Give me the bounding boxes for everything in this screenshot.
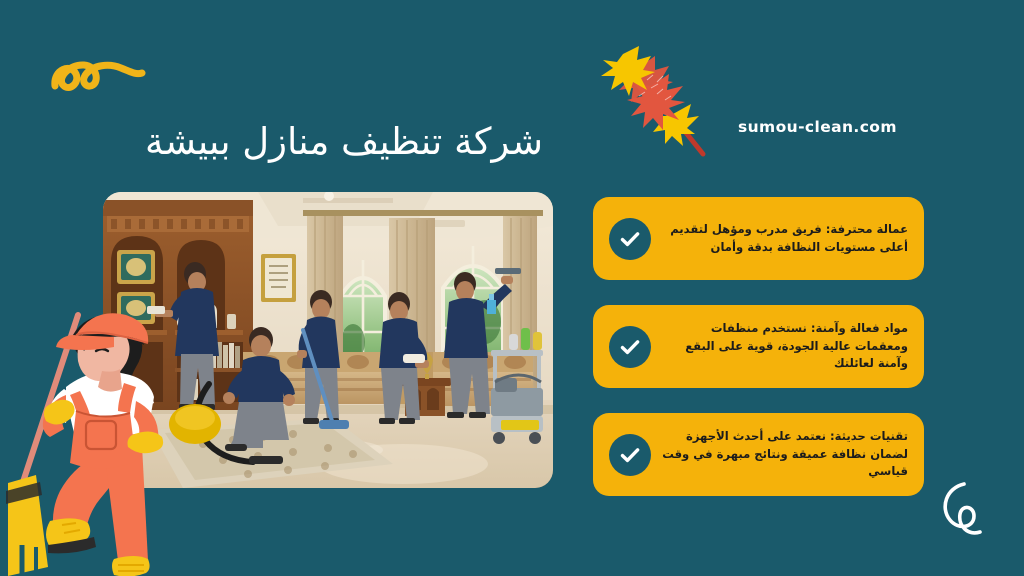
page-title: شركة تنظيف منازل ببيشة xyxy=(89,119,599,165)
feature-text: مواد فعالة وآمنة: نستخدم منظفات ومعقمات … xyxy=(651,320,910,373)
check-circle-icon xyxy=(609,326,651,368)
features-list: عمالة محترفة: فريق مدرب ومؤهل لتقديم أعل… xyxy=(593,197,924,496)
feature-card-3[interactable]: تقنيات حديثة: نعتمد على أحدث الأجهزة لضم… xyxy=(593,413,924,496)
feather-duster-icon xyxy=(595,42,717,164)
check-circle-icon xyxy=(609,434,651,476)
yellow-squiggle-icon xyxy=(47,43,147,103)
feature-text: عمالة محترفة: فريق مدرب ومؤهل لتقديم أعل… xyxy=(651,221,910,256)
feature-card-2[interactable]: مواد فعالة وآمنة: نستخدم منظفات ومعقمات … xyxy=(593,305,924,388)
feature-card-1[interactable]: عمالة محترفة: فريق مدرب ومؤهل لتقديم أعل… xyxy=(593,197,924,280)
feature-text: تقنيات حديثة: نعتمد على أحدث الأجهزة لضم… xyxy=(651,428,910,481)
promo-banner: شركة تنظيف منازل ببيشة sumou-clean.com xyxy=(0,0,1024,576)
website-url[interactable]: sumou-clean.com xyxy=(738,118,897,136)
white-squiggle-icon xyxy=(938,478,986,540)
cleaner-character-illustration xyxy=(6,295,221,576)
check-circle-icon xyxy=(609,218,651,260)
